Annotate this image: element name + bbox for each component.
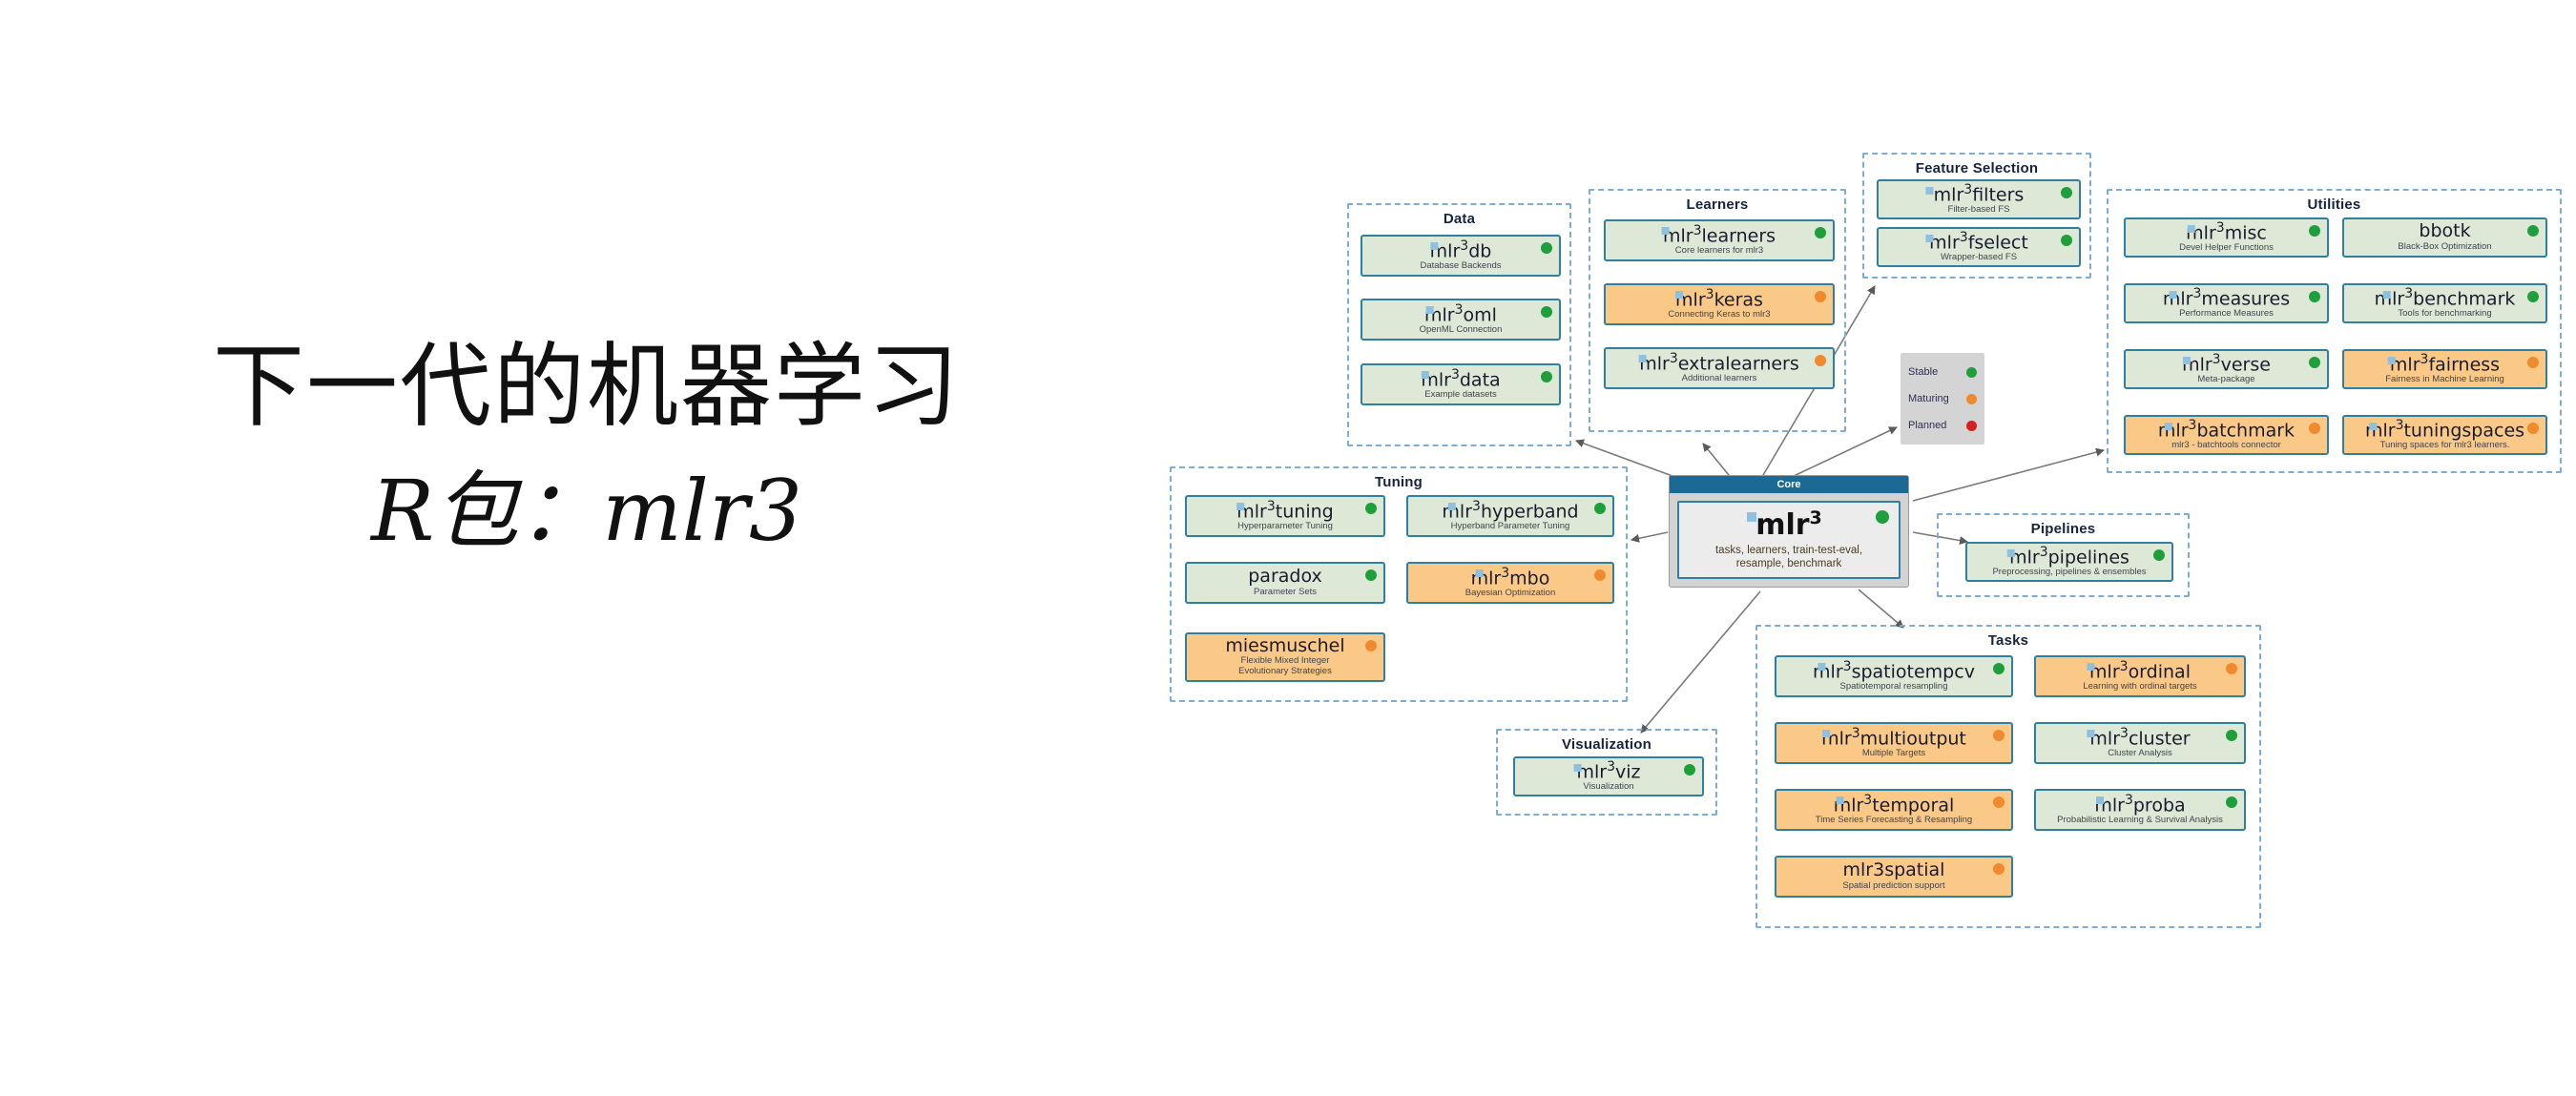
package-box-mlr3spatiotempcv[interactable]: mlr3spatiotempcvSpatiotemporal resamplin… [1775,655,2013,697]
status-dot-stable [1594,503,1606,514]
legend-swatch-maturing [1966,394,1977,404]
package-description: Wrapper-based FS [1941,253,2017,263]
package-box-mlr3verse[interactable]: mlr3verseMeta-package [2124,349,2329,389]
group-title-utilities: Utilities [2109,196,2560,213]
mlr3-logo-tile-icon [2096,796,2104,804]
status-dot-stable [1815,227,1826,238]
mlr3-logo-tile-icon [1430,242,1438,250]
package-name: mlr3spatiotempcv [1813,660,1975,682]
core-node[interactable]: Core mlr3 tasks, learners, train-test-ev… [1669,475,1909,588]
legend-swatch-planned [1966,421,1977,431]
package-box-mlr3cluster[interactable]: mlr3clusterCluster Analysis [2034,722,2246,764]
package-name: mlr3cluster [2089,727,2190,749]
package-box-mlr3data[interactable]: mlr3dataExample datasets [1361,363,1561,405]
core-body: mlr3 tasks, learners, train-test-eval, r… [1677,501,1901,579]
status-dot-stable [2153,549,2165,561]
core-name-base: mlr [1755,508,1809,542]
package-name: mlr3tuningspaces [2365,419,2524,441]
group-learners: Learnersmlr3learnersCore learners for ml… [1589,189,1846,432]
status-dot-stable [2527,291,2539,302]
status-dot-stable [2226,730,2237,741]
package-name: miesmuschel [1225,637,1344,655]
package-name: mlr3hyperband [1442,500,1578,522]
package-box-mlr3tuningspaces[interactable]: mlr3tuningspacesTuning spaces for mlr3 l… [2342,415,2547,455]
package-name: mlr3benchmark [2375,287,2516,309]
group-title-tasks: Tasks [1757,632,2259,649]
status-dot-stable [1993,663,2005,674]
package-name: mlr3pipelines [2009,546,2129,568]
status-dot-stable [1365,503,1377,514]
mlr3-logo-tile-icon [1837,796,1844,804]
package-box-mlr3spatial[interactable]: mlr3spatialSpatial prediction support [1775,856,2013,898]
package-box-mlr3fselect[interactable]: mlr3fselectWrapper-based FS [1877,227,2081,267]
legend-label: Planned [1908,420,1946,431]
package-description: mlr3 - batchtools connector [2171,441,2281,451]
mlr3-logo-tile-icon [1448,503,1456,510]
package-description: Cluster Analysis [2108,749,2172,759]
package-box-mlr3batchmark[interactable]: mlr3batchmarkmlr3 - batchtools connector [2124,415,2329,455]
package-description: Visualization [1583,782,1633,793]
group-title-feature-selection: Feature Selection [1864,160,2089,176]
group-visualization: Visualizationmlr3vizVisualization [1496,729,1717,816]
mlr3-logo-tile-icon [1426,306,1434,314]
package-description: Bayesian Optimization [1465,589,1556,599]
status-dot-maturing [2527,357,2539,368]
package-box-mlr3multioutput[interactable]: mlr3multioutputMultiple Targets [1775,722,2013,764]
package-name: mlr3batchmark [2158,419,2295,441]
package-description: Spatiotemporal resampling [1839,682,1947,693]
package-box-mlr3db[interactable]: mlr3dbDatabase Backends [1361,235,1561,277]
core-header-label: Core [1670,476,1908,493]
package-name: mlr3multioutput [1821,727,1966,749]
legend-label: Stable [1908,366,1938,378]
mlr3-logo-tile-icon [1662,227,1670,235]
package-description: Devel Helper Functions [2179,243,2274,254]
legend-item-planned: Planned [1908,412,1977,439]
package-name: mlr3data [1421,368,1500,390]
package-description: Tools for benchmarking [2398,309,2491,320]
mlr3-logo-tile-icon [1675,291,1683,299]
group-title-data: Data [1349,211,1569,227]
mlr3-logo-tile-icon [1476,569,1484,577]
package-description: Hyperband Parameter Tuning [1451,522,1570,532]
package-box-miesmuschel[interactable]: miesmuschelFlexible Mixed Integer Evolut… [1185,632,1385,682]
status-dot-stable [1876,510,1889,524]
package-name: mlr3learners [1663,224,1776,246]
mlr3-logo-tile-icon [1747,512,1756,522]
status-dot-stable [2309,357,2320,368]
package-box-mlr3misc[interactable]: mlr3miscDevel Helper Functions [2124,217,2329,258]
package-box-mlr3benchmark[interactable]: mlr3benchmarkTools for benchmarking [2342,283,2547,323]
package-name: bbotk [2419,222,2470,240]
package-name: mlr3filters [1934,183,2025,205]
package-description: Flexible Mixed Integer Evolutionary Stra… [1238,656,1332,677]
package-description: Preprocessing, pipelines & ensembles [1992,568,2146,578]
package-box-bbotk[interactable]: bbotkBlack-Box Optimization [2342,217,2547,258]
mlr3-logo-tile-icon [2387,357,2395,364]
package-description: Probabilistic Learning & Survival Analys… [2057,816,2223,826]
group-utilities: Utilitiesmlr3miscDevel Helper Functionsb… [2107,189,2562,473]
package-description: Connecting Keras to mlr3 [1668,310,1770,321]
mlr3-logo-tile-icon [2183,357,2191,364]
package-box-paradox[interactable]: paradoxParameter Sets [1185,562,1385,604]
mlr3-logo-tile-icon [2382,291,2390,299]
package-name: mlr3proba [2094,794,2185,816]
status-dot-maturing [1594,569,1606,581]
package-box-mlr3hyperband[interactable]: mlr3hyperbandHyperband Parameter Tuning [1406,495,1614,537]
package-box-mlr3proba[interactable]: mlr3probaProbabilistic Learning & Surviv… [2034,789,2246,831]
mlr3-logo-tile-icon [1818,663,1825,671]
package-name: mlr3tuning [1236,500,1333,522]
status-dot-stable [2527,225,2539,237]
status-dot-maturing [2226,663,2237,674]
package-box-mlr3temporal[interactable]: mlr3temporalTime Series Forecasting & Re… [1775,789,2013,831]
package-box-mlr3fairness[interactable]: mlr3fairnessFairness in Machine Learning [2342,349,2547,389]
package-description: Multiple Targets [1862,749,1925,759]
package-description: Parameter Sets [1254,588,1317,598]
status-legend: StableMaturingPlanned [1901,353,1984,445]
status-dot-maturing [1993,796,2005,808]
mlr3-logo-tile-icon [2169,291,2176,299]
status-dot-maturing [1365,640,1377,651]
package-name: paradox [1248,568,1322,586]
package-name: mlr3oml [1424,303,1497,325]
package-box-mlr3pipelines[interactable]: mlr3pipelinesPreprocessing, pipelines & … [1965,542,2173,582]
mlr3-logo-tile-icon [2187,225,2194,233]
mlr3-logo-tile-icon [2087,730,2094,737]
status-dot-stable [2061,235,2072,246]
mlr3-logo-tile-icon [1639,355,1647,362]
mlr3-logo-tile-icon [2007,549,2015,557]
package-name: mlr3temporal [1834,794,1955,816]
package-name: mlr3db [1430,239,1492,261]
status-dot-stable [2309,225,2320,237]
package-description: OpenML Connection [1420,325,1503,336]
mlr3-logo-tile-icon [1236,503,1244,510]
core-name-superscript: 3 [1810,507,1822,528]
package-box-mlr3ordinal[interactable]: mlr3ordinalLearning with ordinal targets [2034,655,2246,697]
package-name: mlr3fairness [2390,353,2500,375]
mlr3-logo-tile-icon [1925,187,1933,195]
legend-swatch-stable [1966,367,1977,378]
legend-label: Maturing [1908,393,1949,404]
status-dot-maturing [1993,730,2005,741]
package-description: Black-Box Optimization [2398,242,2491,253]
package-description: Performance Measures [2179,309,2274,320]
package-box-mlr3tuning[interactable]: mlr3tuningHyperparameter Tuning [1185,495,1385,537]
package-name: mlr3viz [1576,760,1640,782]
package-box-mlr3measures[interactable]: mlr3measuresPerformance Measures [2124,283,2329,323]
package-description: Example datasets [1424,390,1497,401]
status-dot-stable [2226,796,2237,808]
package-name: mlr3fselect [1929,231,2028,253]
package-description: Meta-package [2197,375,2254,385]
group-tuning: Tuningmlr3tuningHyperparameter Tuningmlr… [1170,466,1628,702]
package-name: mlr3measures [2163,287,2290,309]
status-dot-maturing [1993,863,2005,875]
group-title-visualization: Visualization [1498,736,1715,753]
status-dot-stable [2309,291,2320,302]
status-dot-maturing [1815,291,1826,302]
package-description: Learning with ordinal targets [2083,682,2196,693]
package-name: mlr3extralearners [1639,352,1799,374]
package-box-mlr3oml[interactable]: mlr3omlOpenML Connection [1361,299,1561,341]
package-name: mlr3ordinal [2089,660,2191,682]
mlr3-logo-tile-icon [1925,235,1933,242]
status-dot-stable [1541,371,1552,383]
status-dot-stable [1541,306,1552,318]
status-dot-stable [2061,187,2072,198]
mlr3-logo-tile-icon [2087,663,2094,671]
package-description: Time Series Forecasting & Resampling [1816,816,1972,826]
group-title-learners: Learners [1590,196,1844,213]
package-box-mlr3filters[interactable]: mlr3filtersFilter-based FS [1877,179,2081,219]
status-dot-stable [1365,569,1377,581]
status-dot-maturing [1815,355,1826,366]
core-description: tasks, learners, train-test-eval, resamp… [1715,544,1862,571]
mlr3-ecosystem-diagram: Datamlr3dbDatabase Backendsmlr3omlOpenML… [0,0,2576,1096]
mlr3-logo-tile-icon [2164,423,2171,430]
package-description: Hyperparameter Tuning [1237,522,1333,532]
mlr3-logo-tile-icon [1422,371,1429,379]
package-name: mlr3spatial [1843,861,1945,879]
package-description: Tuning spaces for mlr3 learners. [2380,441,2510,451]
package-description: Additional learners [1682,374,1757,384]
package-box-mlr3viz[interactable]: mlr3vizVisualization [1513,756,1704,796]
package-description: Fairness in Machine Learning [2385,375,2504,385]
group-data: Datamlr3dbDatabase Backendsmlr3omlOpenML… [1347,203,1571,446]
status-dot-maturing [2527,423,2539,434]
package-box-mlr3keras[interactable]: mlr3kerasConnecting Keras to mlr3 [1604,283,1835,325]
group-pipelines: Pipelinesmlr3pipelinesPreprocessing, pip… [1937,513,2190,597]
status-dot-stable [1684,764,1695,775]
group-title-tuning: Tuning [1172,474,1626,490]
package-description: Filter-based FS [1948,205,2010,216]
package-description: Database Backends [1420,261,1501,272]
package-name: mlr3verse [2182,353,2271,375]
package-name: mlr3misc [2186,221,2267,243]
package-box-mlr3learners[interactable]: mlr3learnersCore learners for mlr3 [1604,219,1835,261]
mlr3-logo-tile-icon [1822,730,1830,737]
package-description: Spatial prediction support [1842,881,1944,892]
legend-item-maturing: Maturing [1908,385,1977,412]
group-feature-selection: Feature Selectionmlr3filtersFilter-based… [1862,153,2091,279]
package-box-mlr3extralearners[interactable]: mlr3extralearnersAdditional learners [1604,347,1835,389]
mlr3-logo-tile-icon [2369,423,2377,430]
legend-item-stable: Stable [1908,359,1977,385]
package-description: Core learners for mlr3 [1675,246,1763,257]
status-dot-maturing [2309,423,2320,434]
mlr3-logo-tile-icon [1574,764,1582,772]
group-tasks: Tasksmlr3spatiotempcvSpatiotemporal resa… [1755,625,2261,928]
package-name: mlr3keras [1675,288,1763,310]
group-title-pipelines: Pipelines [1939,521,2188,537]
core-package-name: mlr3 [1755,509,1822,540]
status-dot-stable [1541,242,1552,254]
package-box-mlr3mbo[interactable]: mlr3mboBayesian Optimization [1406,562,1614,604]
